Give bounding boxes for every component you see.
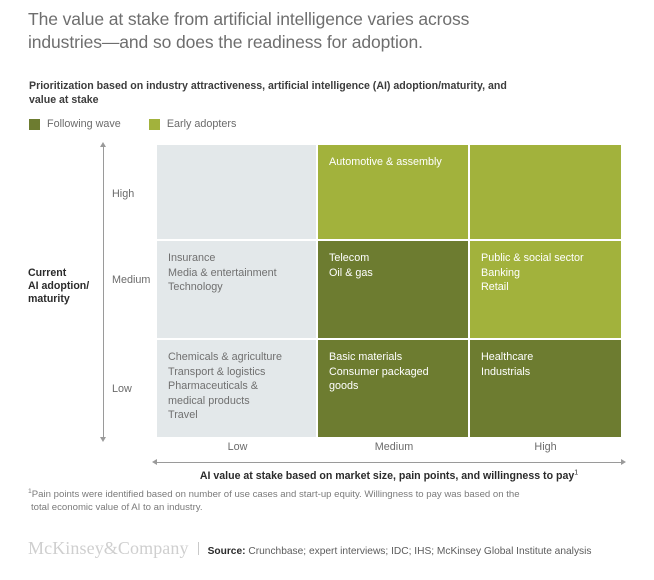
x-axis-arrow-left-icon	[152, 459, 157, 465]
matrix-cell-high-high[interactable]	[470, 145, 621, 241]
prioritization-matrix: Automotive & assembly Insurance Media & …	[157, 145, 621, 437]
x-axis-tick-medium: Medium	[318, 441, 470, 453]
matrix-cell-item: Industrials	[481, 365, 610, 380]
y-axis-line	[103, 146, 104, 438]
y-axis-tick-medium: Medium	[112, 274, 156, 286]
legend-label-following-wave: Following wave	[47, 119, 121, 130]
footnote: 1Pain points were identified based on nu…	[28, 488, 618, 514]
x-axis-tick-low: Low	[157, 441, 318, 453]
matrix-cell-high-medium[interactable]: Automotive & assembly	[318, 145, 470, 241]
x-axis-title-footnote-marker: 1	[574, 469, 578, 476]
chart-legend: Following wave Early adopters	[29, 119, 236, 130]
matrix-cell-item: Basic materials	[329, 350, 457, 365]
matrix-cell-item: medical products	[168, 394, 305, 409]
matrix-cell-item: Insurance	[168, 251, 305, 266]
legend-item-following-wave: Following wave	[29, 119, 121, 130]
legend-swatch-following-wave	[29, 119, 40, 130]
matrix-cell-item: Automotive & assembly	[329, 155, 457, 170]
matrix-cell-medium-low[interactable]: Insurance Media & entertainment Technolo…	[157, 241, 318, 340]
mckinsey-logo: McKinsey&Company	[28, 538, 189, 559]
y-axis-title-line-1: Current	[28, 267, 100, 280]
x-axis-title-text: AI value at stake based on market size, …	[200, 470, 574, 482]
y-axis-tick-high: High	[112, 188, 156, 200]
matrix-cell-item: Travel	[168, 408, 305, 423]
footnote-line-2: total economic value of AI to an industr…	[28, 501, 618, 514]
y-axis-title-line-3: maturity	[28, 293, 100, 306]
matrix-cell-item: Retail	[481, 280, 610, 295]
x-axis-ticks: Low Medium High	[157, 441, 621, 453]
y-axis-title-line-2: AI adoption/	[28, 280, 100, 293]
matrix-cell-item: Healthcare	[481, 350, 610, 365]
chart-subtitle-line-2: value at stake	[29, 93, 589, 107]
matrix-cell-item: Media & entertainment	[168, 266, 305, 281]
matrix-cell-item: Technology	[168, 280, 305, 295]
matrix-cell-item: Banking	[481, 266, 610, 281]
matrix-cell-high-low[interactable]	[157, 145, 318, 241]
matrix-cell-low-medium[interactable]: Basic materials Consumer packaged goods	[318, 340, 470, 437]
legend-item-early-adopters: Early adopters	[149, 119, 237, 130]
y-axis-arrow-up-icon	[100, 142, 106, 147]
legend-label-early-adopters: Early adopters	[167, 119, 237, 130]
source-line: Source: Crunchbase; expert interviews; I…	[208, 546, 592, 557]
matrix-cell-item: Transport & logistics	[168, 365, 305, 380]
source-text: Crunchbase; expert interviews; IDC; IHS;…	[248, 546, 591, 557]
page-title-line-1: The value at stake from artificial intel…	[28, 8, 628, 31]
footnote-line-1: 1Pain points were identified based on nu…	[28, 488, 618, 501]
y-axis-tick-low: Low	[112, 383, 156, 395]
matrix-cell-item: Chemicals & agriculture	[168, 350, 305, 365]
matrix-cell-item: Pharmaceuticals &	[168, 379, 305, 394]
legend-swatch-early-adopters	[149, 119, 160, 130]
footer-divider	[198, 542, 199, 555]
matrix-cell-medium-high[interactable]: Public & social sector Banking Retail	[470, 241, 621, 340]
x-axis-tick-high: High	[470, 441, 621, 453]
matrix-cell-item: Oil & gas	[329, 266, 457, 281]
matrix-cell-medium-medium[interactable]: Telecom Oil & gas	[318, 241, 470, 340]
chart-subtitle: Prioritization based on industry attract…	[29, 79, 589, 107]
footer: McKinsey&Company Source: Crunchbase; exp…	[28, 538, 592, 559]
source-label: Source:	[208, 546, 246, 557]
matrix-cell-low-low[interactable]: Chemicals & agriculture Transport & logi…	[157, 340, 318, 437]
x-axis-line	[157, 462, 621, 463]
chart-subtitle-line-1: Prioritization based on industry attract…	[29, 79, 589, 93]
matrix-cell-item: goods	[329, 379, 457, 394]
x-axis-arrow-right-icon	[621, 459, 626, 465]
matrix-cell-item: Consumer packaged	[329, 365, 457, 380]
footnote-line-1-text: Pain points were identified based on num…	[32, 489, 520, 500]
matrix-cell-item: Telecom	[329, 251, 457, 266]
page-title-line-2: industries—and so does the readiness for…	[28, 31, 628, 54]
x-axis-title: AI value at stake based on market size, …	[157, 470, 621, 482]
page-title: The value at stake from artificial intel…	[28, 8, 628, 54]
matrix-cell-low-high[interactable]: Healthcare Industrials	[470, 340, 621, 437]
y-axis-arrow-down-icon	[100, 437, 106, 442]
y-axis-title: Current AI adoption/ maturity	[28, 267, 100, 306]
matrix-cell-item: Public & social sector	[481, 251, 610, 266]
